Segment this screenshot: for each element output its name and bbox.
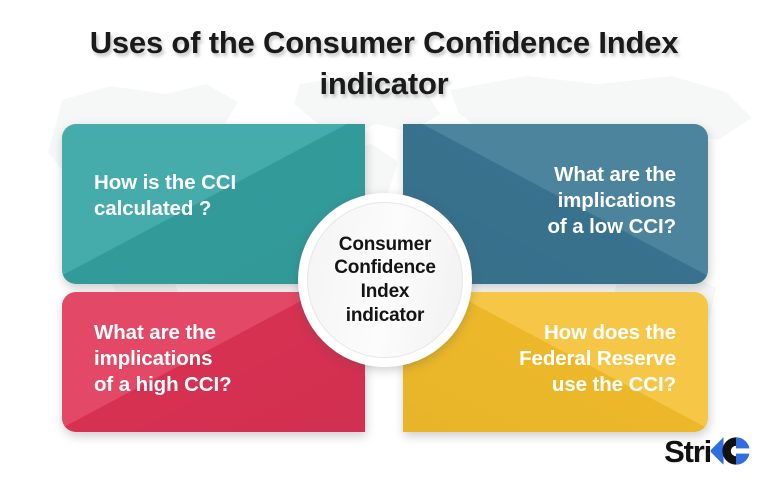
strike-logo[interactable]: Stri	[664, 434, 752, 468]
infographic-canvas: Uses of the Consumer Confidence Index in…	[0, 0, 768, 480]
logo-wordmark: Stri	[664, 436, 711, 467]
center-hub: Consumer Confidence Index indicator	[298, 193, 472, 367]
center-hub-label: Consumer Confidence Index indicator	[334, 233, 435, 327]
strike-arrow-e-icon	[708, 435, 752, 467]
page-title: Uses of the Consumer Confidence Index in…	[0, 22, 768, 104]
center-hub-ring: Consumer Confidence Index indicator	[307, 202, 463, 358]
